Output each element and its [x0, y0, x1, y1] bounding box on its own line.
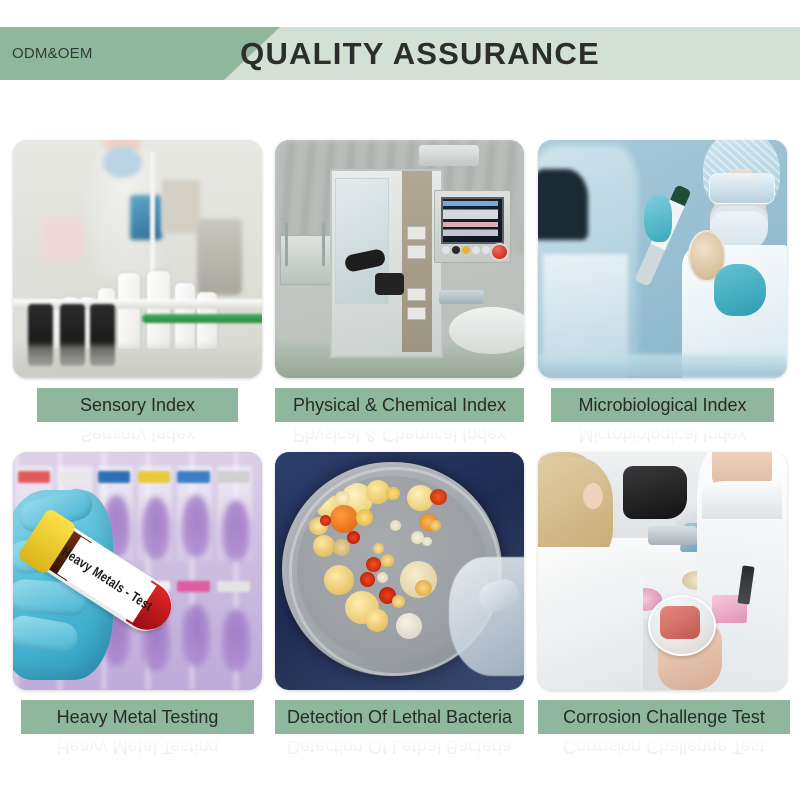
- card-row-2: Heavy Metals - Test Heavy Metal Testing …: [0, 452, 800, 764]
- card-label-reflection: Sensory Index: [37, 422, 238, 448]
- card-sensory-index[interactable]: Sensory Index Sensory Index: [13, 140, 262, 378]
- card-label-sensory-index: Sensory Index: [37, 388, 238, 422]
- page-header: ODM&OEM QUALITY ASSURANCE: [0, 27, 800, 80]
- microbiology-lab-image: [538, 140, 787, 378]
- packaging-machine-image: [275, 140, 524, 378]
- lab-technicians-image: [538, 452, 787, 690]
- card-photo-detection-of-lethal-bacteria: [275, 452, 524, 690]
- card-label-reflection: Corrosion Challenge Test: [538, 734, 790, 760]
- card-row-1: Sensory Index Sensory Index: [0, 140, 800, 452]
- card-corrosion-challenge-test[interactable]: Corrosion Challenge Test Corrosion Chall…: [538, 452, 787, 690]
- card-photo-sensory-index: [13, 140, 262, 378]
- card-label-reflection: Microbiological Index: [551, 422, 774, 448]
- card-label-physical-chemical-index: Physical & Chemical Index: [275, 388, 524, 422]
- card-detection-of-lethal-bacteria[interactable]: Detection Of Lethal Bacteria Detection O…: [275, 452, 524, 690]
- card-label-corrosion-challenge-test: Corrosion Challenge Test: [538, 700, 790, 734]
- page-title: QUALITY ASSURANCE: [0, 27, 800, 80]
- card-label-heavy-metal-testing: Heavy Metal Testing: [21, 700, 254, 734]
- card-photo-microbiological-index: [538, 140, 787, 378]
- card-photo-corrosion-challenge-test: [538, 452, 787, 690]
- card-label-reflection: Detection Of Lethal Bacteria: [275, 734, 524, 760]
- card-heavy-metal-testing[interactable]: Heavy Metals - Test Heavy Metal Testing …: [13, 452, 262, 690]
- production-line-image: [13, 140, 262, 378]
- card-label-microbiological-index: Microbiological Index: [551, 388, 774, 422]
- heavy-metals-test-tube-image: Heavy Metals - Test: [13, 452, 262, 690]
- card-photo-physical-chemical-index: [275, 140, 524, 378]
- petri-dish-colonies-image: [275, 452, 524, 690]
- card-label-reflection: Heavy Metal Testing: [21, 734, 254, 760]
- card-label-detection-of-lethal-bacteria: Detection Of Lethal Bacteria: [275, 700, 524, 734]
- quality-assurance-grid: Sensory Index Sensory Index: [0, 140, 800, 764]
- card-physical-chemical-index[interactable]: Physical & Chemical Index Physical & Che…: [275, 140, 524, 378]
- card-photo-heavy-metal-testing: Heavy Metals - Test: [13, 452, 262, 690]
- card-microbiological-index[interactable]: Microbiological Index Microbiological In…: [538, 140, 787, 378]
- card-label-reflection: Physical & Chemical Index: [275, 422, 524, 448]
